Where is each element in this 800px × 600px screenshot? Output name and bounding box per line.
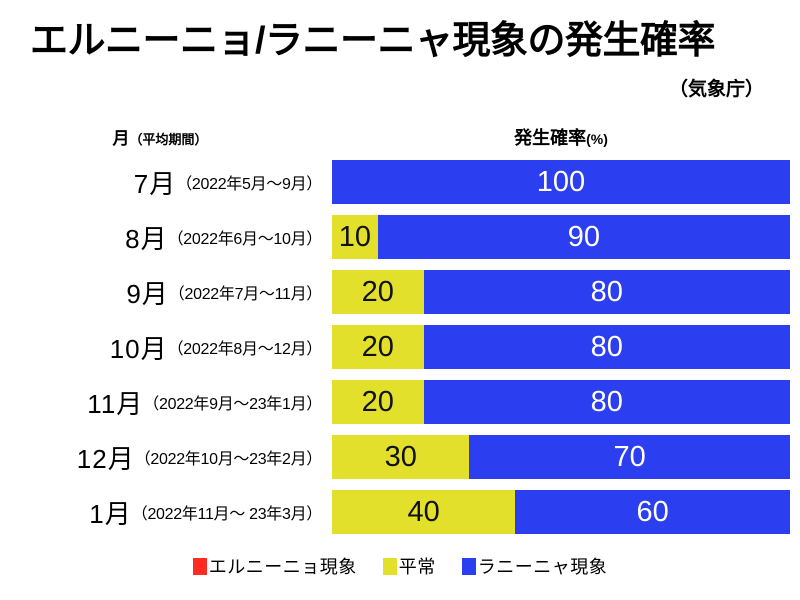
row-label-period: （2022年7月～11月） [169, 280, 322, 304]
row-label-month: 10月 [110, 329, 168, 366]
column-header-month-sub: （平均期間） [129, 132, 207, 147]
bar-segment-lanina[interactable]: 100 [332, 160, 790, 204]
bar-value-label: 30 [385, 443, 417, 472]
chart-row: 7月（2022年5月～9月）100 [0, 160, 800, 204]
chart-row: 8月（2022年6月～10月）1090 [0, 215, 800, 259]
bar-value-label: 100 [537, 168, 585, 197]
bar-segment-normal[interactable]: 10 [332, 215, 378, 259]
bar-segment-normal[interactable]: 20 [332, 380, 424, 424]
bar-segment-lanina[interactable]: 80 [424, 380, 790, 424]
row-label-period: （2022年5月～9月） [176, 170, 322, 194]
bar-value-label: 20 [362, 388, 394, 417]
row-label: 11月（2022年9月～23年1月） [0, 380, 326, 424]
bar-value-label: 60 [636, 498, 668, 527]
legend-swatch-lanina [462, 558, 476, 575]
legend-label-normal: 平常 [399, 553, 436, 579]
bar-segment-normal[interactable]: 20 [332, 325, 424, 369]
row-label-period: （2022年8月～12月） [168, 335, 322, 359]
bar-segment-lanina[interactable]: 80 [424, 325, 790, 369]
row-label-month: 9月 [126, 274, 168, 311]
bar-segment-lanina[interactable]: 80 [424, 270, 790, 314]
legend-item-elnino[interactable]: エルニーニョ現象 [193, 553, 357, 579]
bar-track: 2080 [332, 380, 790, 424]
row-label-month: 11月 [87, 384, 143, 421]
chart-row: 1月（2022年11月～ 23年3月）4060 [0, 490, 800, 534]
row-label: 10月（2022年8月～12月） [0, 325, 326, 369]
chart-row: 11月（2022年9月～23年1月）2080 [0, 380, 800, 424]
bar-track: 2080 [332, 270, 790, 314]
row-label: 9月（2022年7月～11月） [0, 270, 326, 314]
row-label-month: 7月 [134, 164, 176, 201]
row-label-period: （2022年9月～23年1月） [143, 390, 322, 414]
row-label: 12月（2022年10月～23年2月） [0, 435, 326, 479]
row-label-period: （2022年6月～10月） [168, 225, 322, 249]
bar-value-label: 70 [614, 443, 646, 472]
chart-row: 10月（2022年8月～12月）2080 [0, 325, 800, 369]
bar-segment-lanina[interactable]: 60 [515, 490, 790, 534]
bar-value-label: 10 [339, 223, 371, 252]
bar-value-label: 40 [407, 498, 439, 527]
bar-track: 100 [332, 160, 790, 204]
bar-value-label: 20 [362, 278, 394, 307]
row-label-period: （2022年10月～23年2月） [135, 445, 322, 469]
column-header-month-main: 月 [112, 129, 129, 148]
bar-value-label: 80 [591, 333, 623, 362]
chart-row: 9月（2022年7月～11月）2080 [0, 270, 800, 314]
chart-row: 12月（2022年10月～23年2月）3070 [0, 435, 800, 479]
legend-item-normal[interactable]: 平常 [383, 553, 436, 579]
bar-value-label: 20 [362, 333, 394, 362]
legend-item-lanina[interactable]: ラニーニャ現象 [462, 553, 608, 579]
legend-swatch-normal [383, 558, 397, 575]
bar-segment-normal[interactable]: 30 [332, 435, 469, 479]
legend-label-lanina: ラニーニャ現象 [478, 553, 608, 579]
bar-segment-lanina[interactable]: 70 [469, 435, 790, 479]
row-label: 8月（2022年6月～10月） [0, 215, 326, 259]
bar-segment-normal[interactable]: 20 [332, 270, 424, 314]
legend-label-elnino: エルニーニョ現象 [209, 553, 357, 579]
column-header-probability-unit: (%) [586, 131, 608, 147]
row-label-month: 1月 [89, 494, 131, 531]
column-header-probability: 発生確率(%) [332, 124, 790, 150]
legend-swatch-elnino [193, 558, 207, 575]
bar-track: 4060 [332, 490, 790, 534]
row-label-month: 12月 [77, 439, 135, 476]
row-label: 7月（2022年5月～9月） [0, 160, 326, 204]
row-label-month: 8月 [125, 219, 167, 256]
row-label-period: （2022年11月～ 23年3月） [132, 500, 322, 524]
row-label: 1月（2022年11月～ 23年3月） [0, 490, 326, 534]
bar-segment-lanina[interactable]: 90 [378, 215, 790, 259]
chart-legend: エルニーニョ現象平常ラニーニャ現象 [0, 553, 800, 579]
bar-value-label: 90 [568, 223, 600, 252]
bar-value-label: 80 [591, 278, 623, 307]
bar-segment-normal[interactable]: 40 [332, 490, 515, 534]
chart-source-attribution: （気象庁） [669, 74, 764, 101]
column-header-probability-main: 発生確率 [514, 128, 586, 148]
column-header-month: 月（平均期間） [0, 124, 320, 149]
bar-track: 1090 [332, 215, 790, 259]
bar-value-label: 80 [591, 388, 623, 417]
bar-track: 2080 [332, 325, 790, 369]
chart-plot-area: 7月（2022年5月～9月）1008月（2022年6月～10月）10909月（2… [0, 160, 800, 545]
bar-track: 3070 [332, 435, 790, 479]
page-title: エルニーニョ/ラニーニャ現象の発生確率 [30, 22, 715, 62]
